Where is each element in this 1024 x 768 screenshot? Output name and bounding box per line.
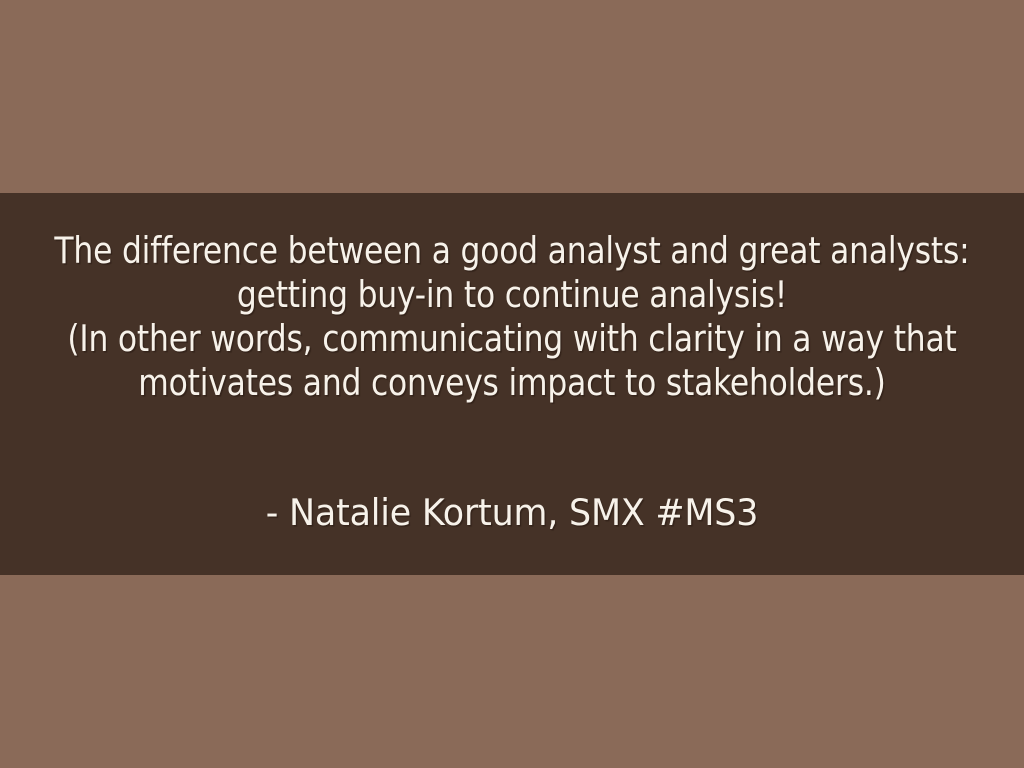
quote-line-3: (In other words, communicating with clar… xyxy=(36,317,987,361)
quote-line-2: getting buy-in to continue analysis! xyxy=(36,273,987,317)
quote-attribution: - Natalie Kortum, SMX #MS3 xyxy=(23,491,1001,535)
quote-slide: The difference between a good analyst an… xyxy=(0,0,1024,768)
background-band-bottom xyxy=(0,575,1024,768)
quote-text-block: The difference between a good analyst an… xyxy=(0,229,1024,405)
quote-panel: The difference between a good analyst an… xyxy=(0,193,1024,575)
quote-line-4: motivates and conveys impact to stakehol… xyxy=(36,361,987,405)
background-band-top xyxy=(0,0,1024,193)
quote-line-1: The difference between a good analyst an… xyxy=(36,229,987,273)
